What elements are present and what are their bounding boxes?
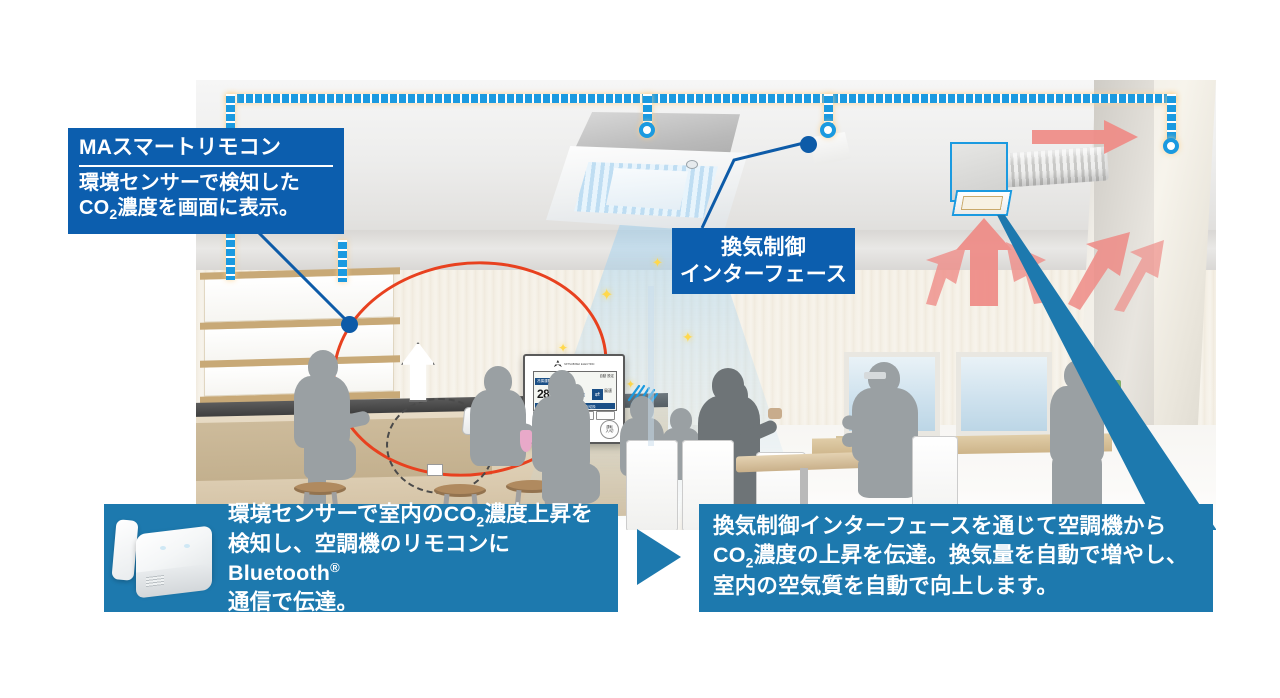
remote-callout-anchor-dot — [341, 316, 358, 333]
callout-sensor-line1: 環境センサーで室内のCO2濃度上昇を — [228, 500, 610, 531]
callout-environment-sensor: 環境センサーで室内のCO2濃度上昇を 検知し、空調機のリモコンにBluetoot… — [104, 504, 618, 612]
sensor-photo-led — [160, 546, 166, 550]
mitsubishi-diamond-icon — [553, 360, 562, 368]
sensor-photo-led — [184, 544, 190, 548]
sensor-line2-pre: 検知し、空調機のリモコンにBluetooth — [228, 532, 510, 585]
sensor-in-scene — [428, 465, 442, 475]
control-line2-sub: 2 — [746, 554, 754, 570]
callout-control-line1: 換気制御インターフェースを通じて空調機から — [713, 512, 1207, 541]
callout-remote-desc-line1: 環境センサーで検知した — [79, 171, 333, 196]
vent-interface-anchor-dot — [800, 136, 817, 153]
remote-callout-leader — [184, 226, 364, 336]
callout-ventilation-control: 換気制御インターフェースを通じて空調機から CO2濃度の上昇を伝達。換気量を自動… — [699, 504, 1213, 612]
window-right — [956, 352, 1052, 436]
remote-brand-text: MITSUBISHI ELECTRIC — [564, 363, 594, 366]
comm-node-interface — [820, 122, 836, 138]
sparkle-icon: ✦ — [682, 330, 694, 344]
flow-arrow-icon — [637, 529, 681, 585]
callout-control-text: 換気制御インターフェースを通じて空調機から CO2濃度の上昇を伝達。換気量を自動… — [713, 512, 1207, 600]
callout-control-line2: CO2濃度の上昇を伝達。換気量を自動で増やし、 — [713, 541, 1207, 572]
callout-vent-line2: インターフェース — [680, 261, 847, 288]
sparkle-icon: ✦ — [600, 288, 613, 304]
callout-ma-smart-remote: MAスマートリモコン 環境センサーで検知した CO2濃度を画面に表示。 — [68, 128, 344, 234]
callout-sensor-line2: 検知し、空調機のリモコンにBluetooth® — [228, 530, 610, 587]
glass-partition — [648, 286, 654, 446]
callout-vent-line1: 換気制御 — [721, 234, 806, 261]
stool-seat — [294, 482, 346, 495]
control-line2-pre: CO — [713, 543, 746, 567]
ac-unit-sensor-icon — [686, 160, 698, 169]
chair — [626, 440, 678, 530]
callout-ventilation-interface: 換気制御 インターフェース — [672, 228, 855, 294]
sensor-line1-post: 濃度上昇を — [484, 502, 593, 526]
callout-sensor-line3: 通信で伝達。 — [228, 588, 610, 617]
sparkle-icon: ✦ — [652, 256, 663, 269]
comm-line-right — [1167, 94, 1176, 144]
callout-remote-title: MAスマートリモコン — [79, 135, 333, 167]
exhaust-outflow-arrow — [1032, 120, 1138, 156]
diagram-root: ✦ ✦ ✦ ✦ ✦ ✦ ✦ — [0, 0, 1280, 698]
sensor-photo-antenna — [111, 519, 138, 581]
co2-text-pre: CO — [79, 197, 109, 219]
exhaust-side-arrows — [1058, 192, 1168, 312]
ac-unit-center-plate — [606, 168, 688, 210]
callout-sensor-text: 環境センサーで室内のCO2濃度上昇を 検知し、空調機のリモコンにBluetoot… — [228, 500, 610, 617]
co2-environment-sensor-photo — [114, 512, 218, 604]
mitsubishi-logo: MITSUBISHI ELECTRIC — [553, 360, 594, 368]
comm-line-top — [226, 94, 1176, 103]
comm-node-fan — [1163, 138, 1179, 154]
callout-remote-desc: 環境センサーで検知した CO2濃度を画面に表示。 — [79, 167, 333, 223]
comm-node-ac — [639, 122, 655, 138]
co2-text-post: 濃度を画面に表示。 — [117, 197, 299, 219]
control-line2-post: 濃度の上昇を伝達。換気量を自動で増やし、 — [754, 543, 1188, 567]
sensor-line1-pre: 環境センサーで室内のCO — [228, 502, 476, 526]
callout-remote-desc-line2: CO2濃度を画面に表示。 — [79, 196, 333, 223]
registered-mark: ® — [330, 560, 340, 575]
callout-control-line3: 室内の空気質を自動で向上します。 — [713, 572, 1207, 601]
exhaust-arrow-group — [908, 198, 1058, 308]
vent-interface-leader — [700, 142, 830, 238]
